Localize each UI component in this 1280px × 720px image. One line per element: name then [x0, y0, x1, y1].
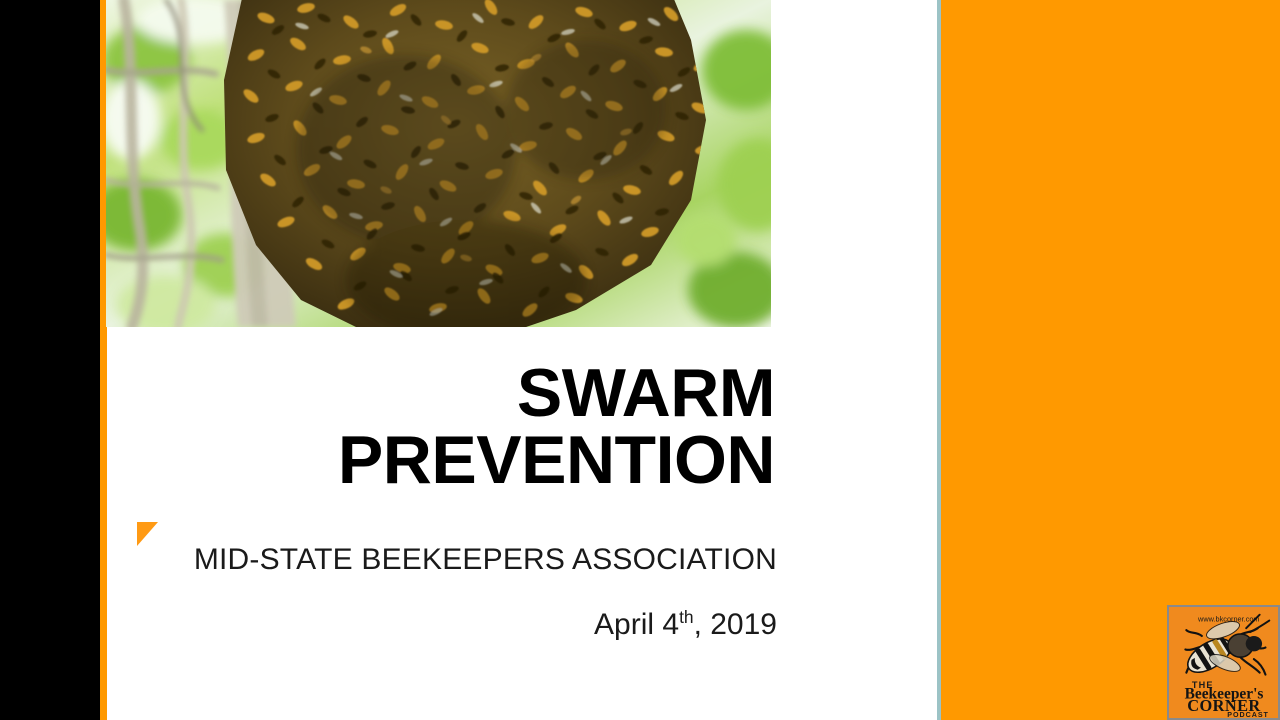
- slide-date-block: April 4th, 2019: [160, 608, 777, 642]
- slide-date: April 4th, 2019: [160, 608, 777, 642]
- presentation-slide: SWARM PREVENTION MID-STATE BEEKEEPERS AS…: [0, 0, 1280, 720]
- left-black-band: [0, 0, 100, 720]
- slide-title-block: SWARM PREVENTION: [160, 360, 775, 495]
- slide-title: SWARM PREVENTION: [160, 360, 775, 495]
- date-prefix: April 4: [594, 608, 679, 641]
- bee-swarm-photo: [106, 0, 771, 327]
- slide-subtitle: MID-STATE BEEKEEPERS ASSOCIATION: [160, 543, 777, 577]
- date-ordinal-suffix: th: [679, 607, 694, 627]
- orange-triangle-bullet-icon: [137, 522, 158, 546]
- beekeepers-corner-podcast-logo[interactable]: www.bkcorner.com: [1167, 605, 1280, 720]
- logo-podcast-text: PODCAST: [1227, 711, 1269, 718]
- date-year: , 2019: [694, 608, 777, 641]
- slide-subtitle-block: MID-STATE BEEKEEPERS ASSOCIATION: [160, 543, 777, 577]
